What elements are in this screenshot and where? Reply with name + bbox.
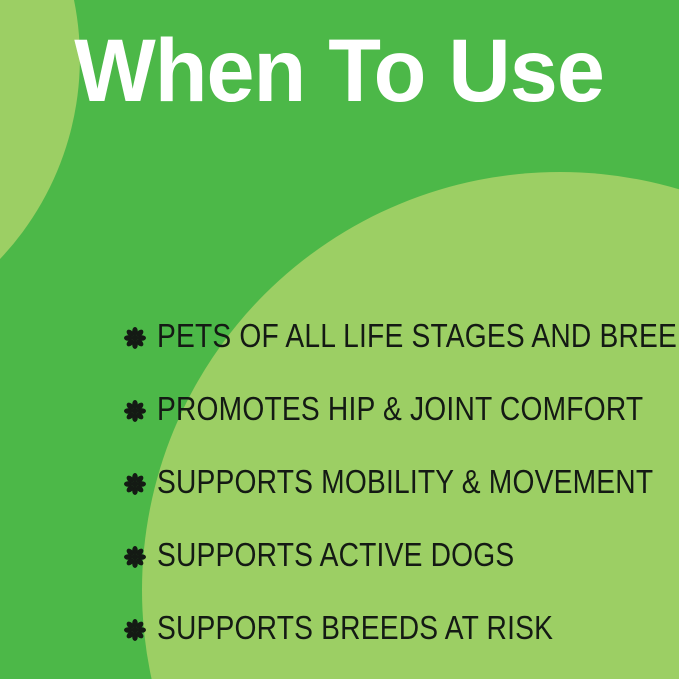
title-block: When To Use (0, 24, 679, 117)
list-item-label: SUPPORTS ACTIVE DOGS (157, 539, 514, 573)
page-title: When To Use (75, 24, 605, 117)
floret-asterisk-icon (124, 546, 146, 568)
list-item-label: SUPPORTS MOBILITY & MOVEMENT (157, 466, 653, 500)
floret-asterisk-icon (124, 473, 146, 495)
floret-asterisk-icon (124, 327, 146, 349)
list-item: SUPPORTS MOBILITY & MOVEMENT (124, 446, 664, 519)
list-item-label: SUPPORTS BREEDS AT RISK (157, 612, 553, 646)
list-item: PROMOTES HIP & JOINT COMFORT (124, 373, 664, 446)
list-item: PETS OF ALL LIFE STAGES AND BREEDS (124, 300, 664, 373)
floret-asterisk-icon (124, 400, 146, 422)
list-item-label: PETS OF ALL LIFE STAGES AND BREEDS (157, 320, 679, 354)
feature-list: PETS OF ALL LIFE STAGES AND BREEDS (124, 300, 664, 665)
list-item: SUPPORTS ACTIVE DOGS (124, 519, 664, 592)
list-item: SUPPORTS BREEDS AT RISK (124, 592, 664, 665)
list-item-label: PROMOTES HIP & JOINT COMFORT (157, 393, 643, 427)
floret-asterisk-icon (124, 619, 146, 641)
when-to-use-poster: When To Use (0, 0, 679, 679)
